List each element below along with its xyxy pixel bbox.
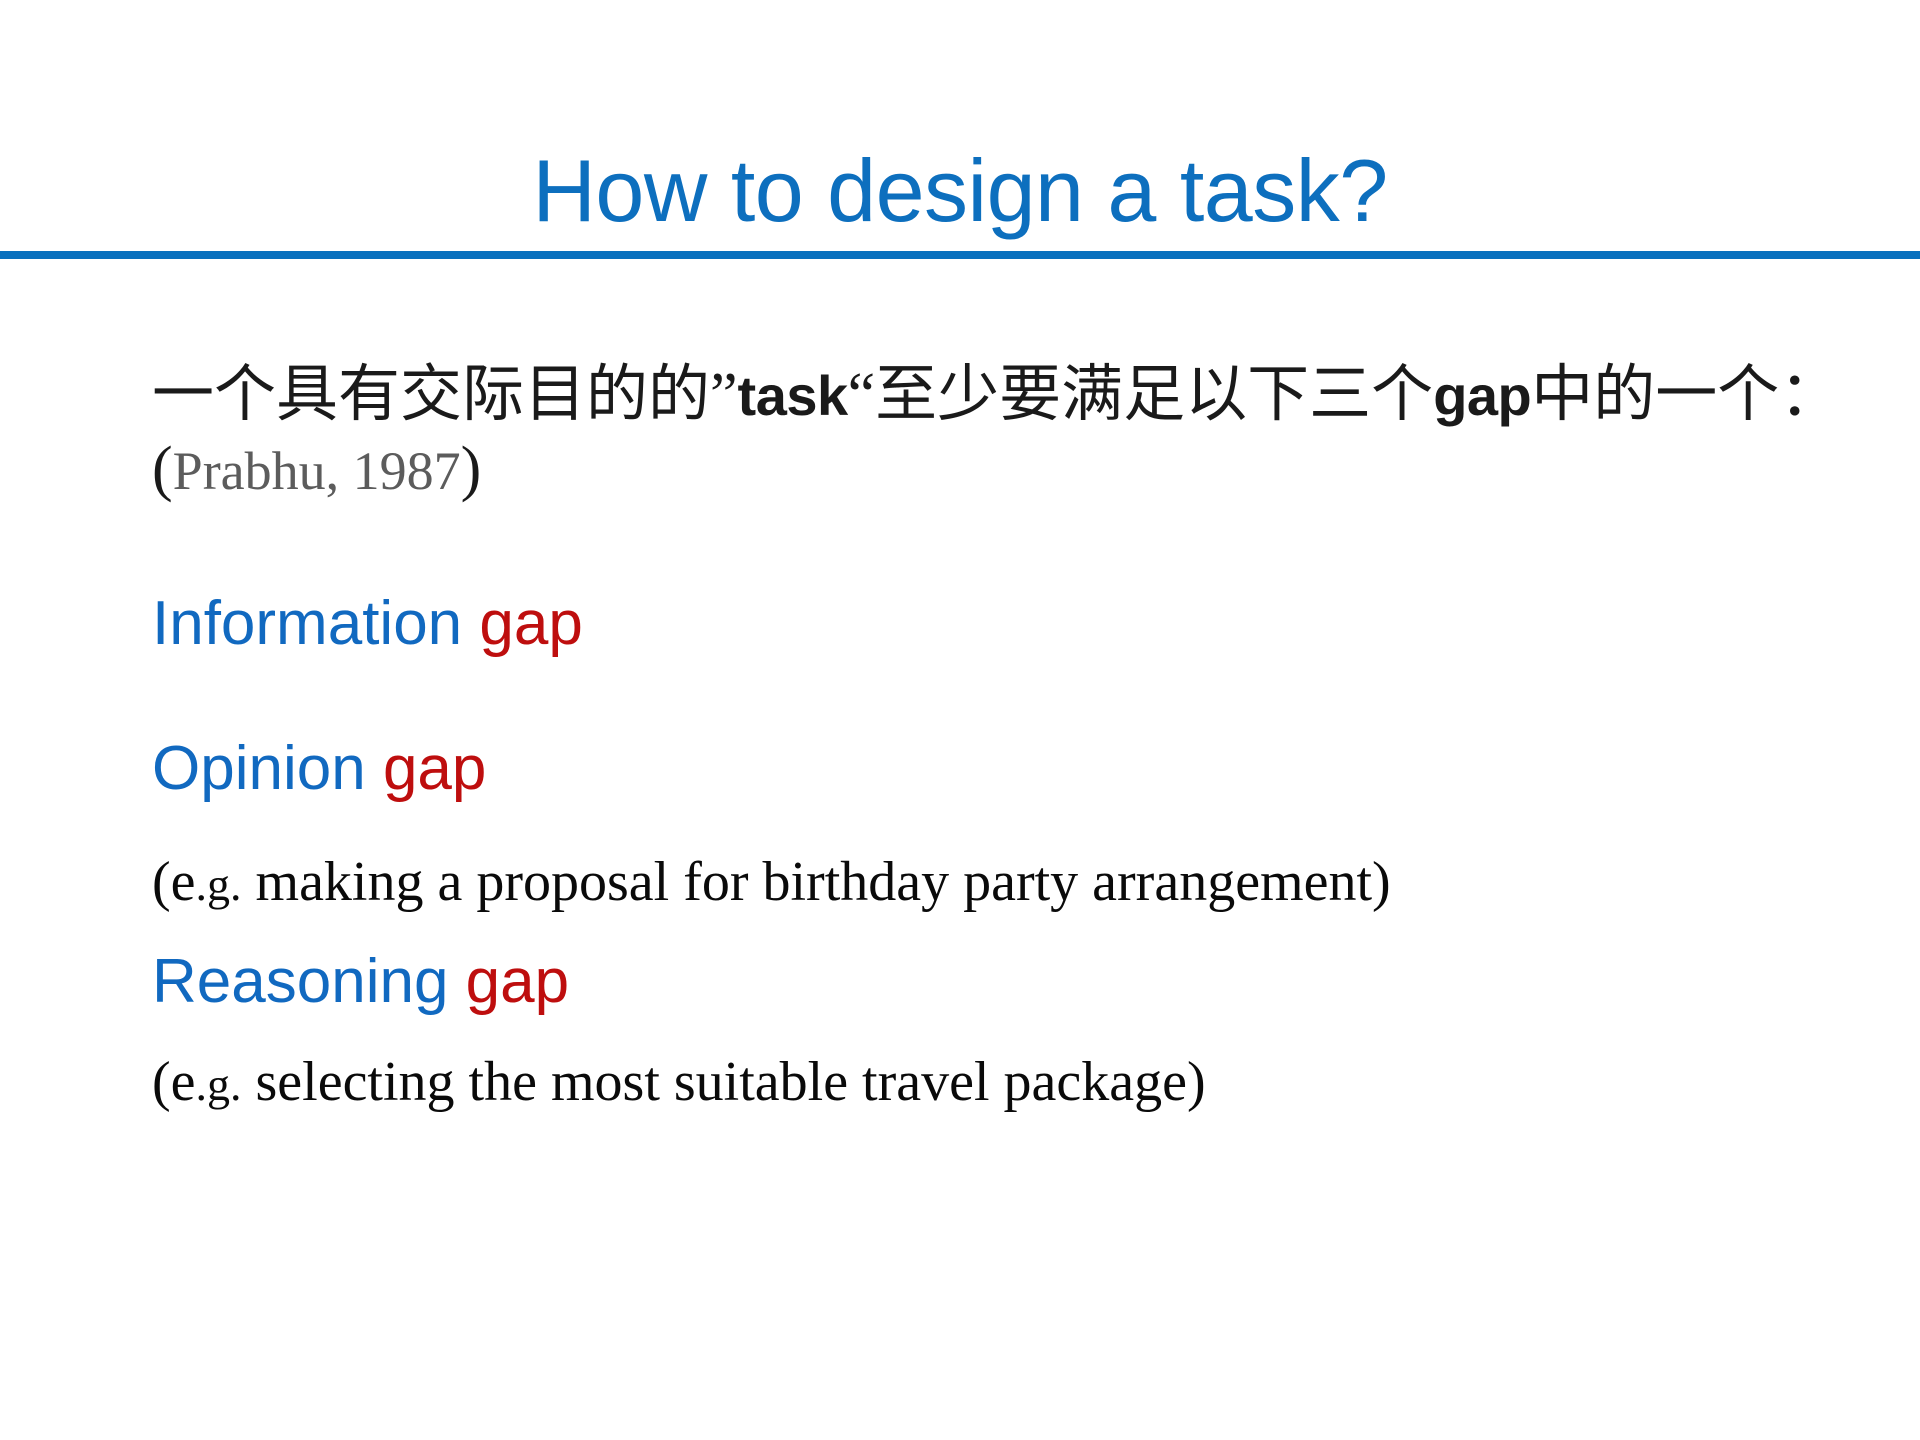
opinion-example-text: making a proposal for birthday party arr… — [242, 851, 1391, 913]
intro-paragraph: 一个具有交际目的的”task“至少要满足以下三个gap中的一个：(Prabhu,… — [152, 358, 1842, 507]
title-divider — [0, 251, 1920, 259]
reasoning-example-abbrev: .g. — [196, 1059, 242, 1110]
gap-item-opinion: Opinion gap — [152, 735, 486, 803]
page-title: How to design a task? — [0, 145, 1920, 237]
gap-item-reasoning: Reasoning gap — [152, 948, 569, 1016]
citation-open-paren: ( — [152, 435, 173, 503]
opening-quote-mark: “ — [848, 361, 876, 429]
reasoning-example-text: selecting the most suitable travel packa… — [242, 1051, 1206, 1113]
reasoning-example-prefix: (e — [152, 1051, 196, 1113]
citation-reference: Prabhu, 1987 — [173, 441, 461, 501]
gap-item-opinion-label: Opinion — [152, 734, 366, 803]
gap-item-reasoning-gap: gap — [466, 947, 569, 1016]
gap-item-opinion-example: (e.g. making a proposal for birthday par… — [152, 850, 1391, 914]
intro-text-segment-1: 一个具有交际目的的 — [152, 361, 710, 429]
gap-item-information: Information gap — [152, 590, 583, 658]
gap-item-information-gap: gap — [479, 589, 582, 658]
gap-item-information-label: Information — [152, 589, 462, 658]
gap-item-reasoning-label: Reasoning — [152, 947, 448, 1016]
gap-item-reasoning-example: (e.g. selecting the most suitable travel… — [152, 1050, 1206, 1114]
intro-text-segment-3: 中的 — [1531, 361, 1655, 429]
presentation-slide: How to design a task? 一个具有交际目的的”task“至少要… — [0, 0, 1920, 1440]
closing-quote-mark: ” — [710, 361, 738, 429]
opinion-example-prefix: (e — [152, 851, 196, 913]
slide-body: 一个具有交际目的的”task“至少要满足以下三个gap中的一个：(Prabhu,… — [152, 296, 1852, 569]
task-keyword: task — [738, 364, 848, 427]
citation-close-paren: ) — [461, 435, 482, 503]
intro-text-segment-4: 一个： — [1655, 361, 1841, 429]
gap-keyword: gap — [1433, 364, 1531, 427]
gap-item-opinion-gap: gap — [383, 734, 486, 803]
intro-text-segment-2: 至少要满足以下三个 — [875, 361, 1433, 429]
opinion-example-abbrev: .g. — [196, 859, 242, 910]
